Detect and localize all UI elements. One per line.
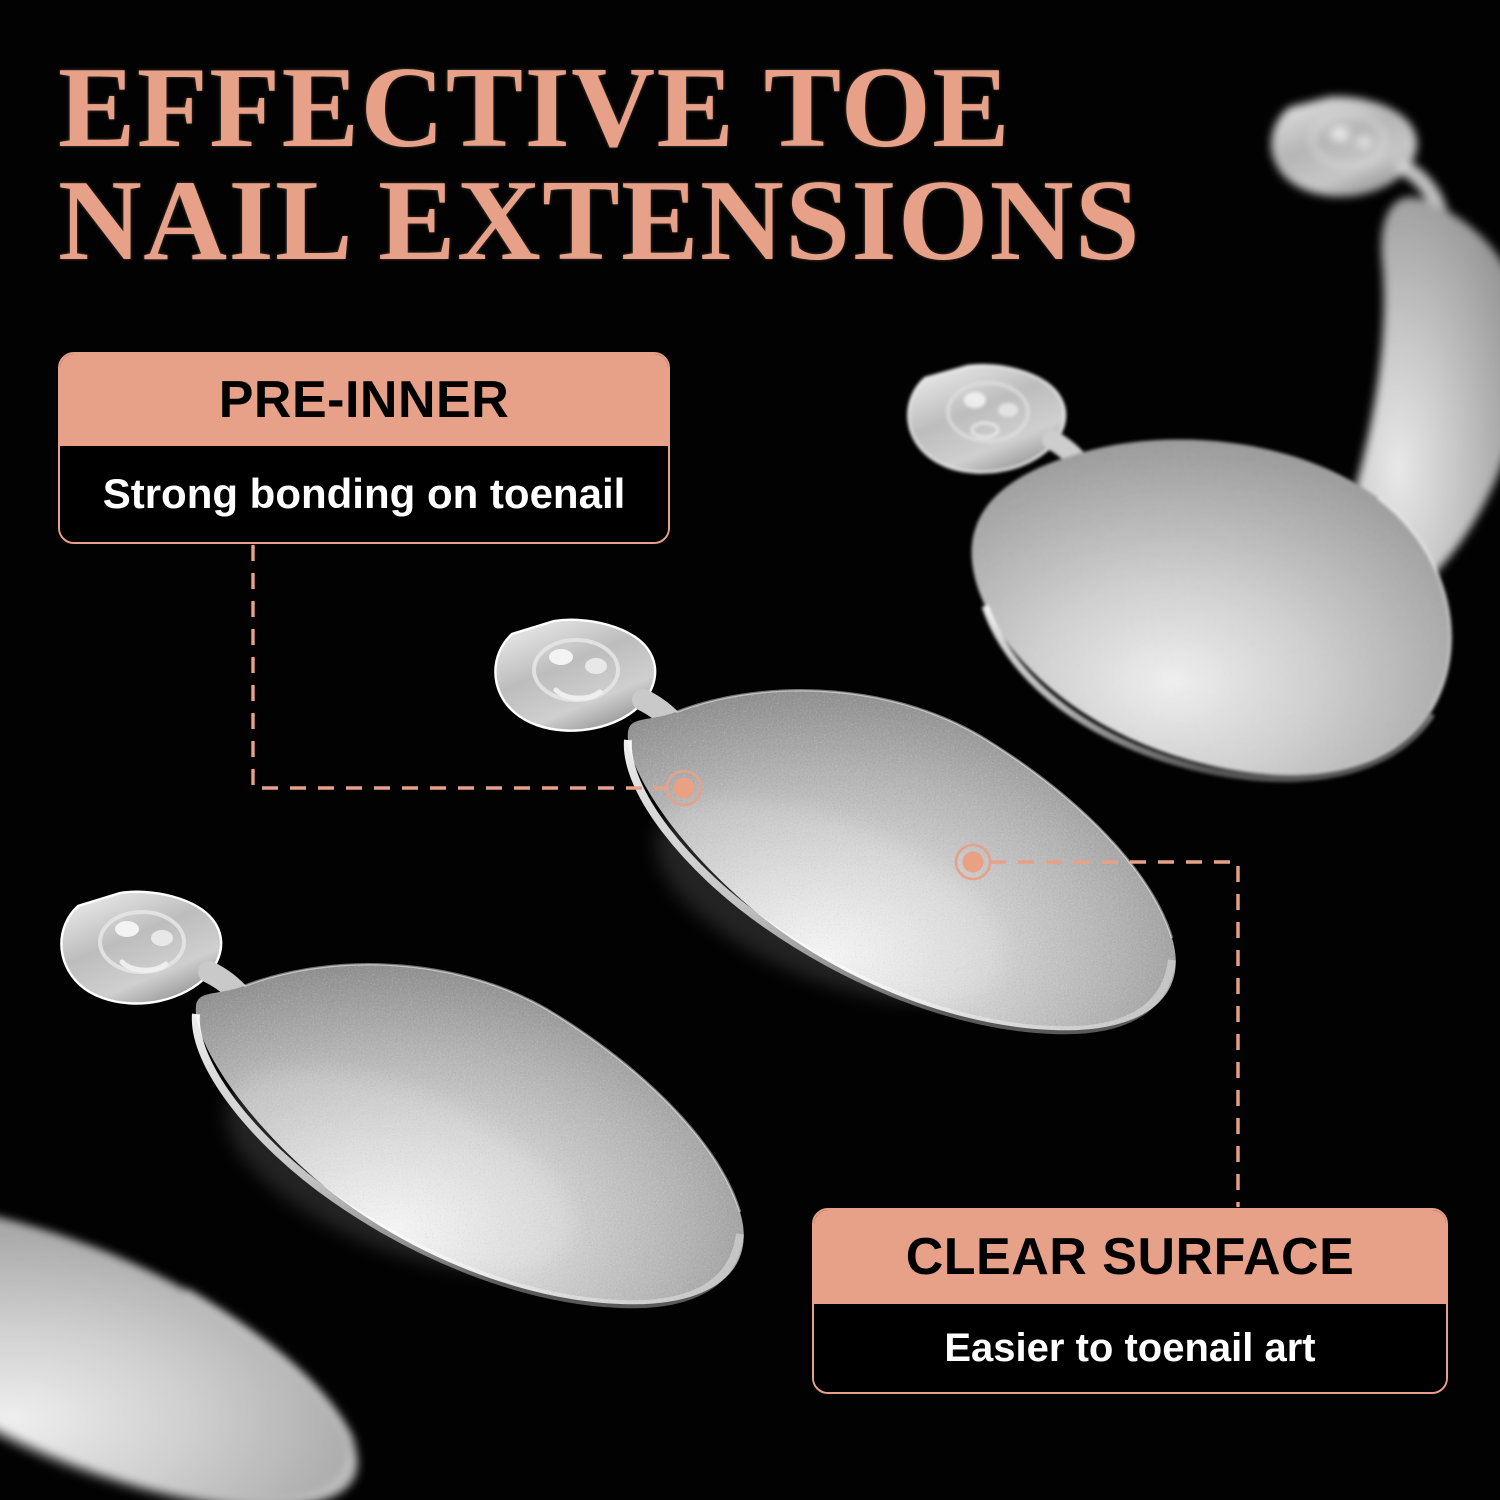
nail-tip-lower-left (61, 892, 743, 1314)
callout-clear-surface: CLEAR SURFACE Easier to toenail art (812, 1208, 1448, 1394)
callout-pre-inner: PRE-INNER Strong bonding on toenail (58, 352, 670, 544)
callout-pre-inner-title: PRE-INNER (60, 354, 668, 446)
poster-canvas: EFFECTIVE TOE NAIL EXTENSIONS PRE-INNER … (0, 0, 1500, 1500)
nail-pull-tab (1272, 98, 1440, 214)
nail-tip-bottom-left-cropped (0, 1195, 358, 1500)
nail-tip-upper-right (908, 365, 1451, 779)
callout-clear-surface-subtitle: Easier to toenail art (814, 1304, 1446, 1392)
callout-clear-surface-title: CLEAR SURFACE (814, 1210, 1446, 1304)
callout-pre-inner-subtitle: Strong bonding on toenail (60, 446, 668, 542)
